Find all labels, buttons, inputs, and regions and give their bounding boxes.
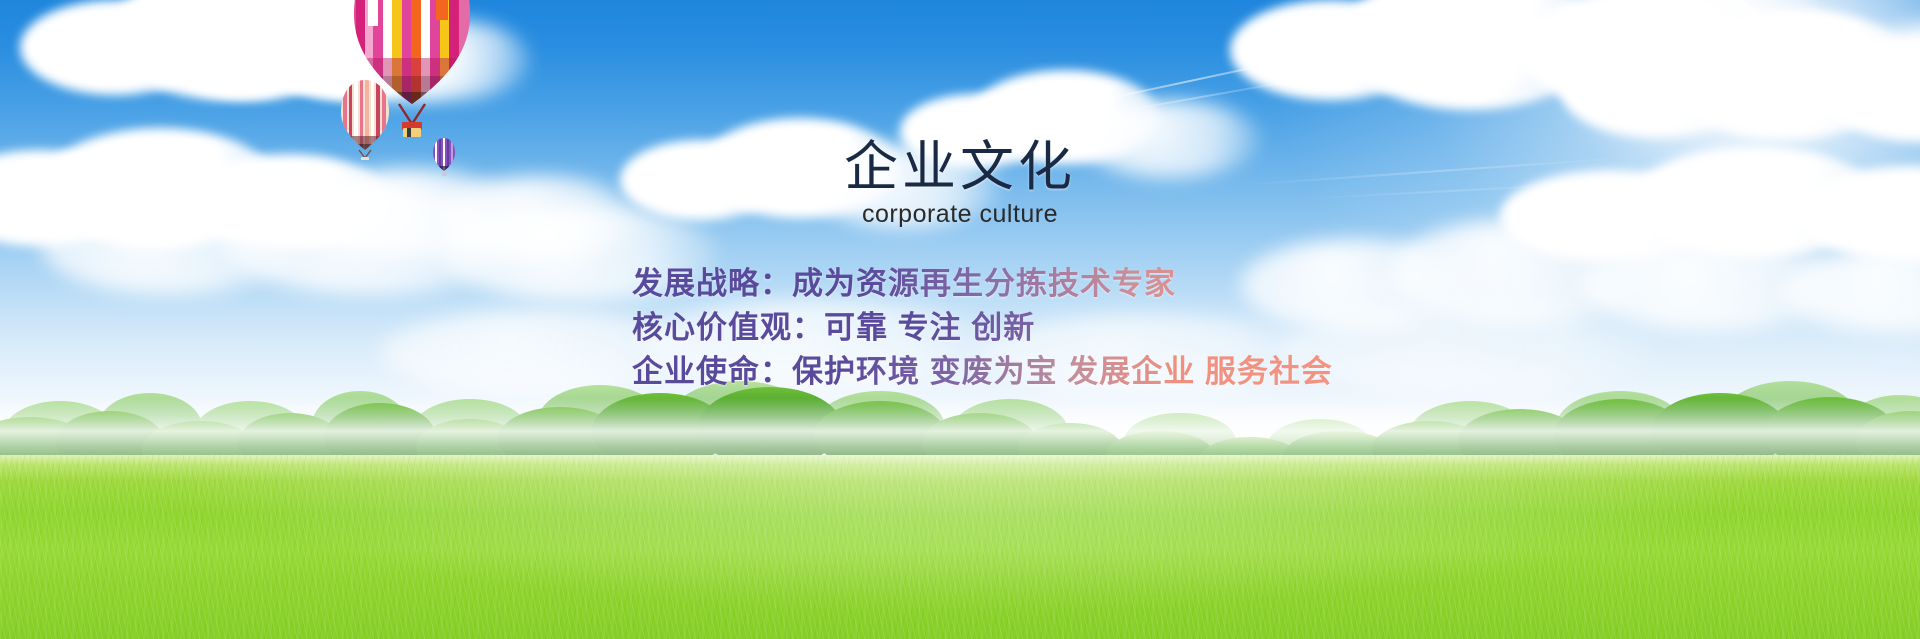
corporate-culture-banner: 企业文化 corporate culture 发展战略：成为资源再生分拣技术专家… — [0, 0, 1920, 639]
statement-core-values: 核心价值观：可靠 专注 创新 — [632, 306, 1333, 350]
banner-content: 企业文化 corporate culture 发展战略：成为资源再生分拣技术专家… — [0, 0, 1920, 639]
page-subtitle: corporate culture — [0, 200, 1920, 229]
statement-development-strategy: 发展战略：成为资源再生分拣技术专家 — [632, 262, 1333, 306]
page-title: 企业文化 — [0, 138, 1920, 196]
statement-corporate-mission: 企业使命：保护环境 变废为宝 发展企业 服务社会 — [632, 350, 1333, 394]
culture-statements: 发展战略：成为资源再生分拣技术专家 核心价值观：可靠 专注 创新 企业使命：保护… — [632, 262, 1333, 394]
title-block: 企业文化 corporate culture — [0, 138, 1920, 229]
